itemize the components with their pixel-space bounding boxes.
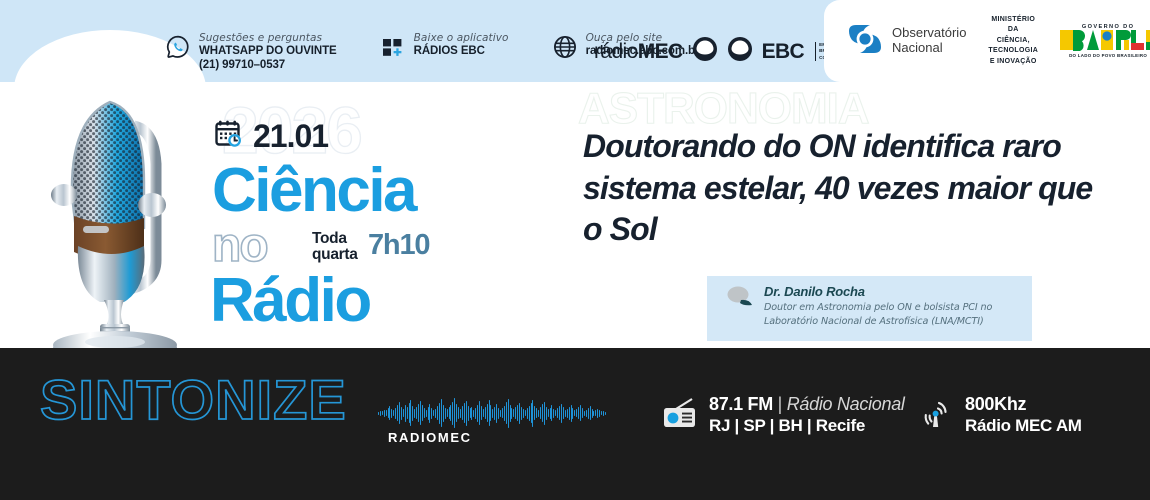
ebc-logo: EBC bbox=[762, 40, 805, 64]
schedule-label: Toda quarta bbox=[312, 231, 358, 263]
schedule-time: 7h10 bbox=[368, 229, 429, 262]
ministry-line2: CIÊNCIA, TECNOLOGIA bbox=[988, 36, 1038, 57]
contact-whatsapp-label: WHATSAPP DO OUVINTE bbox=[199, 45, 337, 59]
radiomec-logo-light: rádio bbox=[594, 40, 638, 63]
radiomec-logo-bold: MEC bbox=[638, 40, 683, 63]
station-fm: 87.1 FM | Rádio Nacional RJ | SP | BH | … bbox=[662, 394, 905, 437]
ministry-line1: MINISTÉRIO DA bbox=[988, 15, 1038, 36]
station-fm-line1: 87.1 FM | Rádio Nacional bbox=[709, 394, 905, 416]
government-bottom-label: DO LADO DO POVO BRASILEIRO bbox=[1060, 53, 1150, 58]
station-am-name: Rádio MEC AM bbox=[965, 416, 1082, 437]
contact-whatsapp-sub: Sugestões e perguntas bbox=[199, 32, 337, 44]
government-logo: GOVERNO DO DO LADO bbox=[1060, 24, 1150, 58]
radiomec-mark-icon bbox=[692, 36, 718, 67]
broadcaster-logos: rádioMEC EBC EMPRESA BRASIL DE COMUNICAÇ… bbox=[594, 36, 855, 67]
program-title-line2: no bbox=[212, 222, 267, 270]
radiomec-logo: rádioMEC bbox=[594, 40, 683, 64]
contact-whatsapp-number: (21) 99710–0537 bbox=[199, 59, 337, 73]
waveform-label: RADIOMEC bbox=[388, 430, 472, 445]
observatorio-mark-icon bbox=[846, 22, 884, 61]
speaker-bio-line1: Doutor em Astronomia pelo ON e bolsista … bbox=[764, 302, 992, 313]
broadcast-tower-icon bbox=[920, 396, 954, 435]
station-am: 800Khz Rádio MEC AM bbox=[920, 394, 1082, 437]
radio-receiver-icon bbox=[662, 397, 698, 434]
schedule-label-line2: quarta bbox=[312, 246, 358, 263]
station-fm-cities: RJ | SP | BH | Recife bbox=[709, 416, 905, 437]
brasil-wordmark-icon bbox=[1060, 30, 1150, 52]
ministry-line3: E INOVAÇÃO bbox=[988, 57, 1038, 68]
contact-whatsapp[interactable]: Sugestões e perguntas WHATSAPP DO OUVINT… bbox=[166, 32, 337, 73]
station-am-frequency: 800Khz bbox=[965, 394, 1026, 414]
broadcast-date-text: 21.01 bbox=[253, 118, 328, 155]
ebc-mark-icon bbox=[727, 36, 753, 67]
vintage-microphone-illustration bbox=[26, 78, 226, 368]
observatorio-line1: Observatório bbox=[892, 25, 966, 40]
ministry-logo: MINISTÉRIO DA CIÊNCIA, TECNOLOGIA E INOV… bbox=[988, 15, 1038, 68]
program-title-line1: Ciência bbox=[212, 160, 415, 222]
speaker-credit-box: Dr. Danilo Rocha Doutor em Astronomia pe… bbox=[707, 276, 1032, 341]
radio-program-banner: Sugestões e perguntas WHATSAPP DO OUVINT… bbox=[0, 0, 1150, 500]
observatorio-line2: Nacional bbox=[892, 40, 943, 55]
institutional-logo-panel: Observatório Nacional MINISTÉRIO DA CIÊN… bbox=[824, 0, 1150, 82]
station-am-line1: 800Khz bbox=[965, 394, 1082, 416]
station-fm-frequency: 87.1 FM bbox=[709, 394, 773, 414]
contact-app-sub: Baixe o aplicativo bbox=[414, 32, 509, 44]
speaker-bio-line2: Laboratório Nacional de Astrofísica (LNA… bbox=[764, 316, 984, 327]
speech-bubble-icon bbox=[725, 284, 755, 329]
observatorio-nacional-logo: Observatório Nacional bbox=[846, 22, 966, 61]
broadcast-date: 21.01 bbox=[214, 118, 328, 155]
program-title-line3: Rádio bbox=[210, 270, 370, 332]
app-grid-icon bbox=[381, 35, 405, 59]
schedule-label-line1: Toda bbox=[312, 230, 347, 247]
audio-waveform-icon bbox=[378, 396, 606, 430]
contact-app[interactable]: Baixe o aplicativo RÁDIOS EBC bbox=[381, 32, 509, 59]
calendar-clock-icon bbox=[214, 119, 244, 154]
globe-icon bbox=[553, 35, 577, 59]
article-headline: Doutorando do ON identifica raro sistema… bbox=[583, 126, 1103, 251]
station-fm-separator: | bbox=[778, 394, 782, 414]
tune-in-headline: SINTONIZE bbox=[40, 372, 347, 428]
whatsapp-icon bbox=[166, 35, 190, 59]
speaker-name: Dr. Danilo Rocha bbox=[764, 284, 992, 299]
contact-app-label: RÁDIOS EBC bbox=[414, 45, 509, 59]
station-fm-name: Rádio Nacional bbox=[787, 394, 905, 414]
